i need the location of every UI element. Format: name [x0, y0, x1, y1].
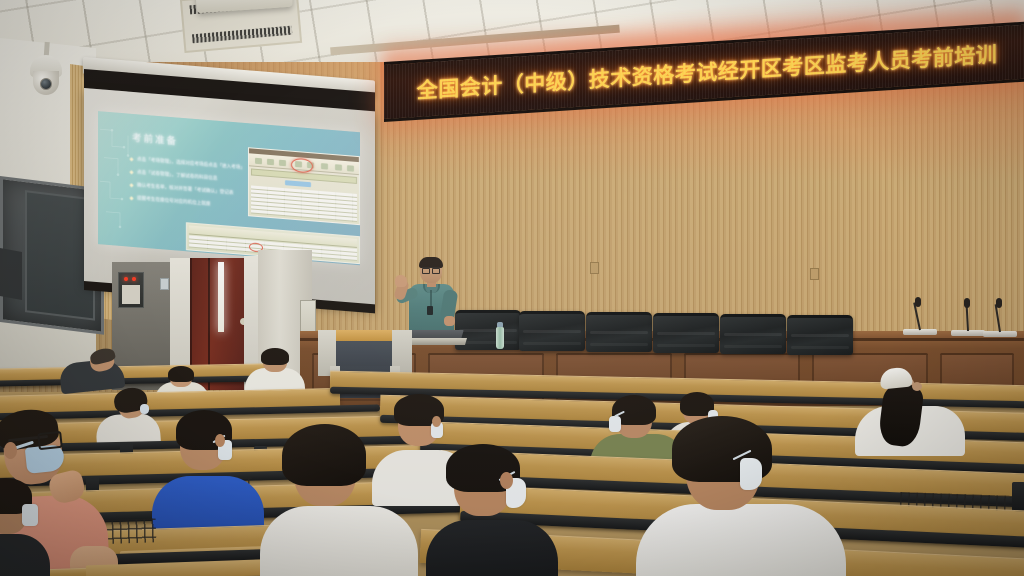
microphone-head	[964, 298, 970, 308]
presenter	[400, 258, 462, 340]
attendee-ear	[432, 416, 441, 427]
screenshot-data-grid	[251, 185, 357, 222]
presenter-hand-right	[444, 316, 455, 326]
attendee	[60, 349, 124, 389]
slide-bullet-list: 点击「考场管理」，选择对应考场后点击「进入考场」 点击「试卷管理」，了解试卷的科…	[130, 156, 260, 219]
seated-attendees-area	[0, 352, 1024, 576]
dais-chair[interactable]	[519, 311, 585, 351]
attendee-shirt	[426, 520, 558, 576]
toolbar-icon	[335, 164, 342, 171]
light-switch[interactable]	[160, 278, 169, 290]
status-led-icon	[124, 277, 128, 281]
glasses-icon	[422, 267, 440, 271]
toolbar-icon	[321, 163, 328, 170]
presentation-slide: 考前准备 点击「考场管理」，选择对应考场后点击「进入考场」 点击「试卷管理」，了…	[98, 111, 360, 265]
wall-outlet	[590, 262, 599, 274]
attendee	[260, 430, 418, 576]
face-mask	[609, 416, 621, 432]
attendee	[152, 414, 264, 538]
attendee-hair	[168, 366, 194, 382]
glasses-lens	[37, 431, 63, 450]
attendee-shirt	[636, 504, 846, 576]
toolbar-icon	[255, 158, 262, 165]
face-mask	[22, 504, 38, 526]
toolbar-icon	[267, 159, 274, 166]
slide-screenshot-primary	[248, 147, 360, 225]
attendee	[245, 348, 305, 390]
face-mask	[140, 404, 149, 414]
wall-outlet	[810, 268, 819, 280]
status-led-icon	[132, 277, 136, 281]
presenter-hand-left	[395, 275, 407, 287]
attendee-ear	[215, 434, 225, 447]
attendee-shirt	[260, 506, 418, 576]
presenter-badge	[427, 306, 433, 315]
wall-bracket	[0, 248, 22, 300]
attendee-ear	[912, 382, 922, 391]
dais-chair[interactable]	[787, 315, 853, 355]
dais-chair[interactable]	[586, 312, 652, 352]
dais-chair[interactable]	[653, 313, 719, 353]
white-cap	[879, 366, 913, 389]
door-gap-light	[218, 262, 224, 332]
screenshot-action-button	[285, 180, 311, 187]
attendee	[855, 366, 965, 452]
attendee-shirt	[0, 534, 50, 576]
control-panel-face	[122, 285, 140, 304]
face-mask	[740, 458, 762, 490]
attendee-hair	[261, 348, 289, 365]
water-bottle	[496, 327, 504, 349]
attendee	[0, 482, 50, 576]
lecture-hall-photo: 考前准备 点击「考场管理」，选择对应考场后点击「进入考场」 点击「试卷管理」，了…	[0, 0, 1024, 576]
attendee	[426, 448, 558, 576]
camera-lens-icon	[40, 78, 52, 90]
attendee-ear	[4, 442, 17, 459]
microphone-head	[996, 298, 1002, 308]
microphone-head	[915, 297, 921, 307]
wall-control-panel[interactable]	[118, 272, 144, 308]
attendee-hair	[282, 424, 366, 486]
attendee	[636, 420, 846, 576]
toolbar-icon	[279, 160, 286, 167]
attendee-ear	[500, 472, 513, 489]
toolbar-icon	[347, 165, 354, 172]
presenter-placket	[430, 290, 432, 306]
dais-chair[interactable]	[720, 314, 786, 354]
